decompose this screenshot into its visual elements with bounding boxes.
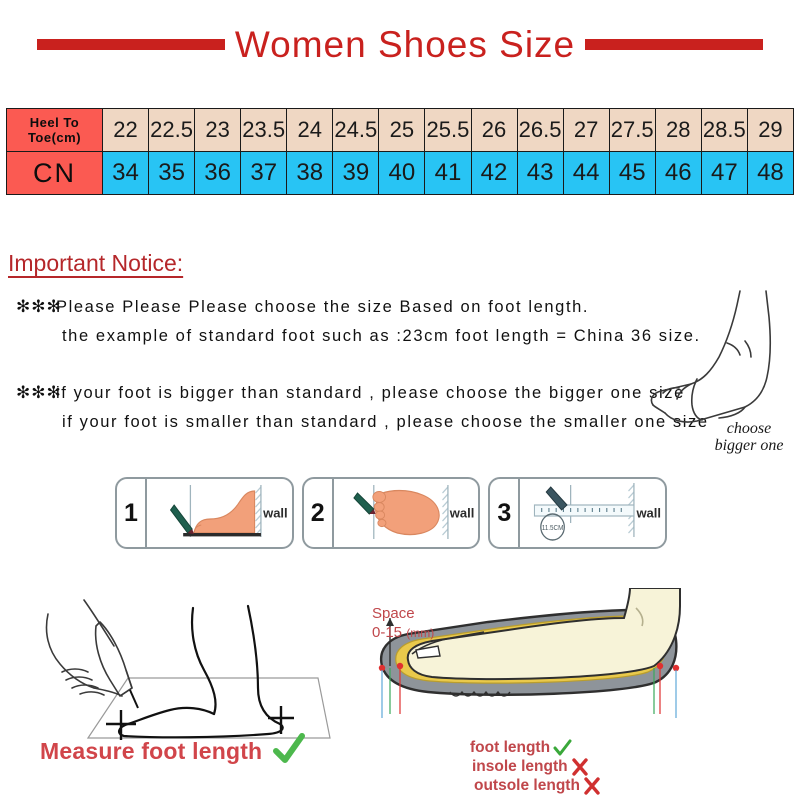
cm-cell: 22.5 [149, 109, 195, 152]
notice-text: the example of standard foot such as :23… [62, 327, 701, 345]
space-label-line-1: Space [372, 604, 434, 623]
size-conversion-table: Heel To Toe(cm) 22 22.5 23 23.5 24 24.5 … [6, 108, 794, 195]
step-panel-1: 1 wall [115, 477, 294, 549]
notice-line: if your foot is smaller than standard , … [16, 408, 709, 437]
step-number: 2 [304, 479, 334, 547]
cm-cell: 28.5 [701, 109, 747, 152]
cross-red-icon [582, 777, 602, 795]
step-number: 3 [490, 479, 520, 547]
wall-label: wall [636, 506, 661, 521]
row-header-cn: CN [7, 152, 103, 195]
dimension-labels: foot length insole length outsole length [470, 738, 720, 795]
check-green-icon [552, 739, 572, 757]
space-range: 0-15 [372, 624, 402, 641]
caption-line-1: choose [694, 420, 800, 437]
table-row-cm: Heel To Toe(cm) 22 22.5 23 23.5 24 24.5 … [7, 109, 794, 152]
cm-cell: 23 [195, 109, 241, 152]
step-panel-2: 2 wall [302, 477, 481, 549]
cn-cell: 47 [701, 152, 747, 195]
dimension-row-outsole-length: outsole length [470, 776, 720, 795]
notice-text: if your foot is smaller than standard , … [62, 413, 709, 431]
cm-cell: 29 [747, 109, 793, 152]
cm-cell: 26 [471, 109, 517, 152]
cm-cell: 27 [563, 109, 609, 152]
measure-foot-length-caption: Measure foot length [40, 738, 262, 765]
cn-cell: 40 [379, 152, 425, 195]
page-title: Women Shoes Size [225, 26, 585, 63]
step-2-illustration: wall [334, 479, 479, 547]
step-3-illustration: 11.5CM wall [520, 479, 665, 547]
cm-cell: 24.5 [333, 109, 379, 152]
choose-bigger-one-caption: choose bigger one [694, 420, 800, 454]
asterisk-marker: ✻✻✻ [16, 378, 56, 407]
dimension-row-insole-length: insole length [470, 757, 720, 776]
step-1-illustration: wall [147, 479, 292, 547]
cm-cell: 25 [379, 109, 425, 152]
dimension-row-foot-length: foot length [470, 738, 720, 757]
dimension-label: outsole length [474, 777, 580, 795]
step-number: 1 [117, 479, 147, 547]
cn-cell: 36 [195, 152, 241, 195]
cm-cell: 26.5 [517, 109, 563, 152]
notice-line: ✻✻✻if your foot is bigger than standard … [16, 378, 709, 408]
ruler-measurement-badge: 11.5CM [542, 525, 564, 532]
wall-label: wall [263, 506, 288, 521]
row-header-heel-to-toe: Heel To Toe(cm) [7, 109, 103, 152]
cn-cell: 34 [103, 152, 149, 195]
cn-cell: 42 [471, 152, 517, 195]
cn-cell: 38 [287, 152, 333, 195]
asterisk-marker: ✻✻✻ [16, 292, 56, 321]
cm-cell: 25.5 [425, 109, 471, 152]
cn-cell: 35 [149, 152, 195, 195]
cross-red-icon [570, 758, 590, 776]
dimension-label: insole length [472, 758, 568, 776]
cm-cell: 22 [103, 109, 149, 152]
check-green-icon [272, 733, 306, 767]
title-rule-right [585, 39, 763, 50]
measuring-steps: 1 wall 2 [115, 477, 667, 549]
cn-cell: 43 [517, 152, 563, 195]
cn-cell: 39 [333, 152, 379, 195]
cn-cell: 46 [655, 152, 701, 195]
cn-cell: 44 [563, 152, 609, 195]
notice-text: if your foot is bigger than standard , p… [56, 384, 685, 402]
caption-line-2: bigger one [694, 437, 800, 454]
notice-line: ✻✻✻Please Please Please choose the size … [16, 292, 701, 322]
notice-block-foot-length: ✻✻✻Please Please Please choose the size … [16, 292, 701, 351]
notice-line: the example of standard foot such as :23… [16, 322, 701, 351]
cm-cell: 24 [287, 109, 333, 152]
cn-cell: 48 [747, 152, 793, 195]
page-title-banner: Women Shoes Size [0, 16, 800, 72]
dimension-label: foot length [470, 739, 550, 757]
cn-cell: 41 [425, 152, 471, 195]
notice-block-bigger-smaller: ✻✻✻if your foot is bigger than standard … [16, 378, 709, 437]
step-panel-3: 3 [488, 477, 667, 549]
wall-label: wall [450, 506, 475, 521]
cn-cell: 37 [241, 152, 287, 195]
notice-text: Please Please Please choose the size Bas… [56, 298, 589, 316]
cn-cell: 45 [609, 152, 655, 195]
cm-cell: 28 [655, 109, 701, 152]
space-label-line-2: 0-15 (mm) [372, 623, 434, 643]
cm-cell: 23.5 [241, 109, 287, 152]
table-row-cn: CN 34 35 36 37 38 39 40 41 42 43 44 45 4… [7, 152, 794, 195]
cm-cell: 27.5 [609, 109, 655, 152]
title-rule-left [37, 39, 225, 50]
space-gap-label: Space 0-15 (mm) [372, 604, 434, 643]
important-notice-heading: Important Notice: [8, 250, 183, 277]
space-unit: (mm) [406, 626, 434, 640]
